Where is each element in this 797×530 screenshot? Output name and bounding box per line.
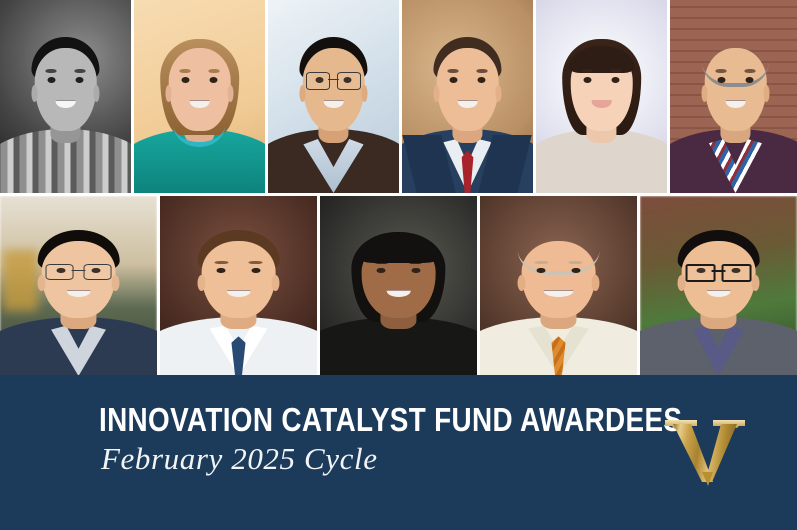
awardee-photo-11 bbox=[640, 196, 797, 376]
subject-eye-left bbox=[47, 77, 55, 83]
subject-ear-left bbox=[518, 275, 526, 291]
subject-eye-left bbox=[717, 77, 725, 83]
photo-subject bbox=[268, 0, 399, 193]
subject-collar bbox=[303, 139, 363, 193]
subject-eye-right bbox=[478, 77, 486, 83]
eyeglasses-icon bbox=[46, 264, 112, 278]
subject-head bbox=[169, 48, 231, 131]
subject-ear-left bbox=[198, 275, 206, 291]
subject-head bbox=[437, 48, 499, 131]
subject-head bbox=[35, 48, 97, 131]
awardee-photo-9 bbox=[320, 196, 477, 376]
subject-ear-right bbox=[361, 85, 368, 102]
subject-head bbox=[303, 48, 365, 131]
subject-eye-right bbox=[210, 77, 218, 83]
photo-subject bbox=[402, 0, 533, 193]
awardee-photo-3 bbox=[268, 0, 399, 193]
title-banner: INNOVATION CATALYST FUND AWARDEES Februa… bbox=[0, 375, 797, 530]
awardee-photo-1 bbox=[0, 0, 131, 193]
photo-subject bbox=[480, 196, 637, 376]
subject-ear-right bbox=[227, 85, 234, 102]
awardee-photo-7 bbox=[0, 196, 157, 376]
subject-ear-right bbox=[93, 85, 100, 102]
banner-text-block: INNOVATION CATALYST FUND AWARDEES Februa… bbox=[99, 403, 619, 477]
awardee-photo-row-top bbox=[0, 0, 797, 193]
subject-ear-right bbox=[591, 275, 599, 291]
awardee-photo-5 bbox=[536, 0, 667, 193]
subject-eye-left bbox=[583, 77, 591, 83]
subject-ear-right bbox=[751, 275, 759, 291]
subject-head bbox=[202, 241, 276, 318]
awardee-photo-2 bbox=[134, 0, 265, 193]
subject-collar bbox=[42, 326, 114, 376]
photo-subject bbox=[134, 0, 265, 193]
eyeglasses-icon bbox=[306, 72, 361, 87]
photo-subject bbox=[0, 196, 157, 376]
vanderbilt-v-logo bbox=[661, 416, 749, 486]
photo-subject bbox=[160, 196, 317, 376]
photo-subject bbox=[0, 0, 131, 193]
awardee-photo-row-bottom bbox=[0, 196, 797, 376]
subject-collar bbox=[705, 139, 765, 193]
photo-subject bbox=[640, 196, 797, 376]
subject-ear-right bbox=[111, 275, 119, 291]
awardee-announcement-poster: INNOVATION CATALYST FUND AWARDEES Februa… bbox=[0, 0, 797, 530]
photo-subject bbox=[320, 196, 477, 376]
awardee-photo-6 bbox=[670, 0, 797, 193]
subject-ear-left bbox=[678, 275, 686, 291]
subject-collar bbox=[682, 326, 754, 376]
eyeglasses-icon bbox=[686, 264, 752, 278]
subject-eye-right bbox=[76, 77, 84, 83]
photo-subject bbox=[670, 0, 797, 193]
page-subtitle: February 2025 Cycle bbox=[101, 441, 619, 477]
subject-eye-right bbox=[612, 77, 620, 83]
subject-ear-right bbox=[271, 275, 279, 291]
subject-eye-left bbox=[449, 77, 457, 83]
page-title: INNOVATION CATALYST FUND AWARDEES bbox=[99, 403, 538, 437]
awardee-photo-8 bbox=[160, 196, 317, 376]
awardee-photo-10 bbox=[480, 196, 637, 376]
subject-ear-right bbox=[763, 85, 770, 102]
awardee-photo-4 bbox=[402, 0, 533, 193]
subject-eye-right bbox=[746, 77, 754, 83]
subject-ear-left bbox=[38, 275, 46, 291]
photo-subject bbox=[536, 0, 667, 193]
subject-eye-left bbox=[181, 77, 189, 83]
subject-ear-right bbox=[495, 85, 502, 102]
awardee-photo-grid bbox=[0, 0, 797, 376]
subject-head bbox=[42, 241, 116, 318]
